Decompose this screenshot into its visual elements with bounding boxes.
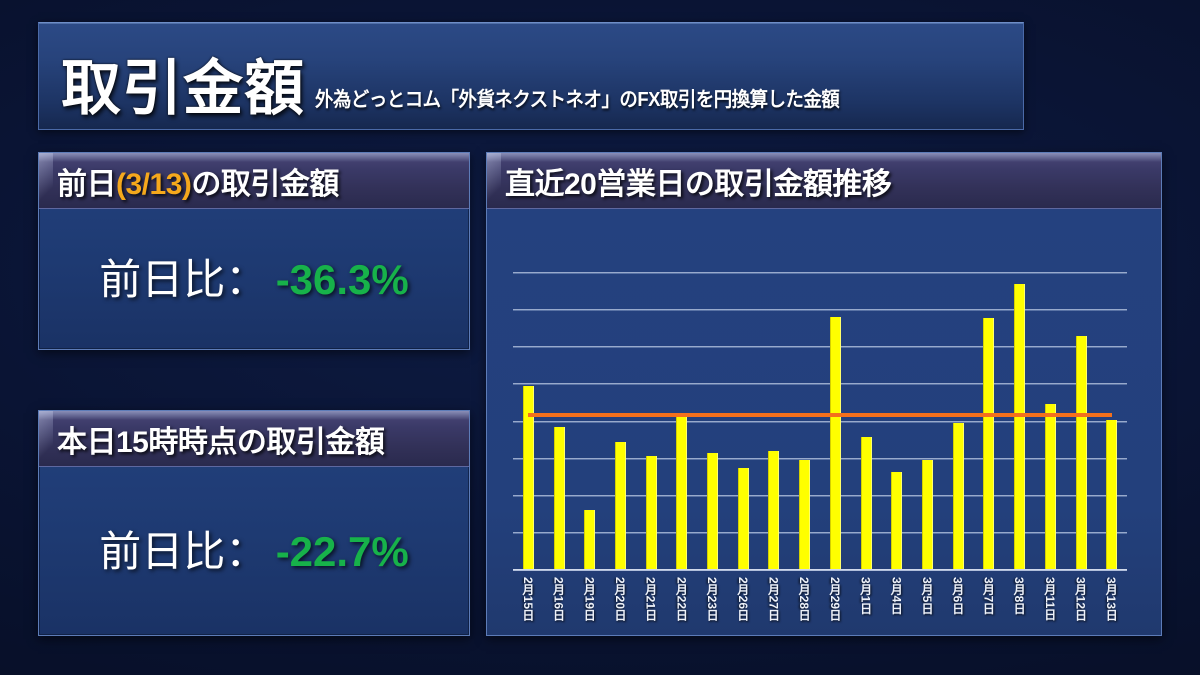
trend-chart-panel: 直近20営業日の取引金額推移 2月15日2月16日2月19日2月20日2月21日… [486,152,1162,636]
bar-slot [667,416,698,569]
chart-bar [584,510,595,569]
chart-bar [799,460,810,569]
chart-bar [953,423,964,569]
x-axis-label: 2月26日 [735,577,752,621]
x-label-slot: 2月28日 [789,577,820,621]
bar-slot [636,456,667,569]
x-axis-label: 2月16日 [551,577,568,621]
chart-bar [1014,284,1025,569]
today-15h-change-label: 前日比： [99,528,267,575]
panel-title-suffix: の取引金額 [191,168,339,201]
x-axis-label: 3月6日 [950,577,967,621]
x-axis-label: 2月22日 [673,577,690,621]
chart-bar [861,437,872,569]
x-label-slot: 3月5日 [912,577,943,621]
today-15h-change-value: -22.7% [276,528,409,575]
x-label-slot: 2月22日 [667,577,698,621]
chart-bar [1045,404,1056,569]
bar-slot [544,427,575,569]
x-label-slot: 3月11日 [1035,577,1066,621]
chart-bar [1076,336,1087,569]
bar-slot [1004,284,1035,569]
bar-slot [1096,420,1127,569]
chart-baseline-axis [513,569,1127,571]
bar-slot [881,472,912,569]
trend-chart-panel-header: 直近20営業日の取引金額推移 [487,153,1161,209]
x-label-slot: 2月15日 [513,577,544,621]
bar-slot [728,468,759,569]
chart-bar [768,451,779,569]
bar-chart-plot: 2月15日2月16日2月19日2月20日2月21日2月22日2月23日2月26日… [513,235,1127,635]
chart-bar [891,472,902,569]
bar-slot [605,442,636,569]
chart-bar [983,318,994,569]
chart-bar [830,317,841,569]
x-axis-label: 2月23日 [704,577,721,621]
today-15h-change-row: 前日比： -22.7% [99,518,409,579]
bar-slot [789,460,820,569]
trend-chart-area: 2月15日2月16日2月19日2月20日2月21日2月22日2月23日2月26日… [487,209,1161,635]
x-axis-label: 2月19日 [581,577,598,621]
chart-bar [707,453,718,569]
slide-canvas: 取引金額 外為どっとコム「外貨ネクストネオ」のFX取引を円換算した金額 前日(3… [0,0,1200,675]
x-label-slot: 3月12日 [1066,577,1097,621]
x-axis-label: 2月21日 [643,577,660,621]
x-label-slot: 3月13日 [1096,577,1127,621]
panel-title-prefix: 本日15時時点の取引金額 [57,426,384,459]
x-label-slot: 3月6日 [943,577,974,621]
x-label-slot: 2月23日 [697,577,728,621]
x-axis-label: 2月29日 [827,577,844,621]
x-label-slot: 2月29日 [820,577,851,621]
chart-bar [615,442,626,569]
bar-slot [759,451,790,569]
x-label-slot: 2月27日 [759,577,790,621]
header-banner: 取引金額 外為どっとコム「外貨ネクストネオ」のFX取引を円換算した金額 [38,22,1024,130]
x-label-slot: 3月1日 [851,577,882,621]
chart-bar [1106,420,1117,569]
previous-day-panel-title: 前日(3/13)の取引金額 [57,159,339,203]
today-15h-panel-title: 本日15時時点の取引金額 [57,417,384,461]
bar-slot [943,423,974,569]
panel-title-prefix: 前日 [57,168,116,201]
previous-day-amount-panel: 前日(3/13)の取引金額 前日比： -36.3% [38,152,470,350]
average-reference-line [528,413,1111,417]
page-title: 取引金額 [61,59,305,119]
bar-slot [820,317,851,569]
previous-day-panel-body: 前日比： -36.3% [39,209,469,349]
bar-slot [974,318,1005,569]
chart-bar [554,427,565,569]
x-axis-label: 3月5日 [919,577,936,621]
x-label-slot: 3月7日 [974,577,1005,621]
chart-bar [676,416,687,569]
x-axis-label: 3月8日 [1011,577,1028,621]
previous-day-change-label: 前日比： [99,256,267,303]
page-subtitle: 外為どっとコム「外貨ネクストネオ」のFX取引を円換算した金額 [315,90,839,110]
today-15h-panel-header: 本日15時時点の取引金額 [39,411,469,467]
bar-slot [1066,336,1097,569]
x-label-slot: 2月26日 [728,577,759,621]
x-label-slot: 2月16日 [544,577,575,621]
x-axis-label: 2月15日 [520,577,537,621]
today-15h-panel-body: 前日比： -22.7% [39,467,469,635]
previous-day-change-value: -36.3% [276,256,409,303]
x-label-slot: 2月19日 [574,577,605,621]
x-axis-label: 3月7日 [980,577,997,621]
x-label-slot: 2月20日 [605,577,636,621]
bar-slot [912,460,943,569]
chart-bars [513,235,1127,569]
bar-slot [697,453,728,569]
chart-bar [738,468,749,569]
x-axis-label: 3月11日 [1042,577,1059,621]
x-axis-label: 2月20日 [612,577,629,621]
bar-slot [574,510,605,569]
x-axis-label: 3月1日 [858,577,875,621]
panel-title-date: (3/13) [116,168,191,201]
chart-x-axis-labels: 2月15日2月16日2月19日2月20日2月21日2月22日2月23日2月26日… [513,577,1127,621]
x-label-slot: 3月8日 [1004,577,1035,621]
previous-day-change-row: 前日比： -36.3% [99,246,409,307]
x-axis-label: 2月27日 [765,577,782,621]
chart-bar [646,456,657,569]
today-15h-amount-panel: 本日15時時点の取引金額 前日比： -22.7% [38,410,470,636]
x-axis-label: 2月28日 [796,577,813,621]
trend-chart-title: 直近20営業日の取引金額推移 [505,159,891,203]
previous-day-panel-header: 前日(3/13)の取引金額 [39,153,469,209]
chart-bar [922,460,933,569]
x-axis-label: 3月4日 [888,577,905,621]
x-axis-label: 3月12日 [1073,577,1090,621]
x-label-slot: 3月4日 [881,577,912,621]
bar-slot [1035,404,1066,569]
x-label-slot: 2月21日 [636,577,667,621]
x-axis-label: 3月13日 [1103,577,1120,621]
bar-slot [851,437,882,569]
